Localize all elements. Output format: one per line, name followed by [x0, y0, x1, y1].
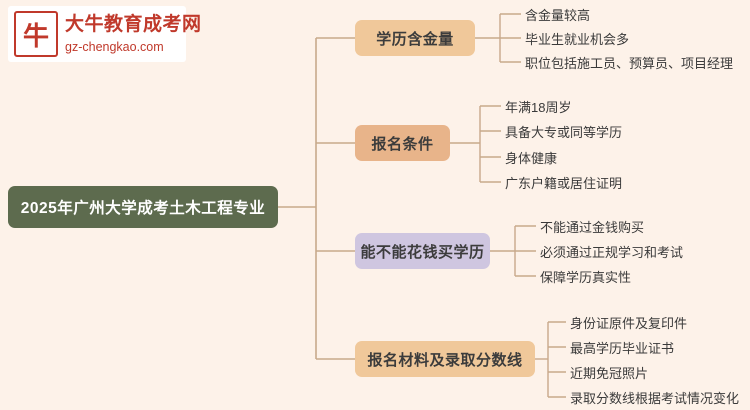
- mindmap-root-node: 2025年广州大学成考土木工程专业: [8, 186, 278, 228]
- logo-title: 大牛教育成考网: [65, 14, 202, 36]
- branch-node-can-buy-degree[interactable]: 能不能花钱买学历: [355, 233, 490, 269]
- logo-text-block: 大牛教育成考网 gz-chengkao.com: [65, 14, 202, 54]
- branch-node-materials-and-score-line[interactable]: 报名材料及录取分数线: [355, 341, 535, 377]
- leaf-item: 近期免冠照片: [570, 367, 648, 380]
- leaf-item: 广东户籍或居住证明: [505, 177, 622, 190]
- leaf-item: 毕业生就业机会多: [525, 33, 629, 46]
- leaf-item: 职位包括施工员、预算员、项目经理: [525, 57, 733, 70]
- leaf-item: 年满18周岁: [505, 101, 571, 114]
- leaf-item: 身体健康: [505, 152, 557, 165]
- leaf-item: 录取分数线根据考试情况变化: [570, 392, 739, 405]
- leaf-item: 不能通过金钱购买: [540, 221, 644, 234]
- logo-subtitle: gz-chengkao.com: [65, 40, 202, 54]
- leaf-item: 具备大专或同等学历: [505, 126, 622, 139]
- logo-mark-icon: 牛: [14, 11, 58, 57]
- site-logo: 牛 大牛教育成考网 gz-chengkao.com: [8, 6, 186, 62]
- leaf-item: 最高学历毕业证书: [570, 342, 674, 355]
- leaf-item: 身份证原件及复印件: [570, 317, 687, 330]
- leaf-item: 含金量较高: [525, 9, 590, 22]
- leaf-item: 必须通过正规学习和考试: [540, 246, 683, 259]
- leaf-item: 保障学历真实性: [540, 271, 631, 284]
- branch-node-registration-requirements[interactable]: 报名条件: [355, 125, 450, 161]
- branch-node-degree-value[interactable]: 学历含金量: [355, 20, 475, 56]
